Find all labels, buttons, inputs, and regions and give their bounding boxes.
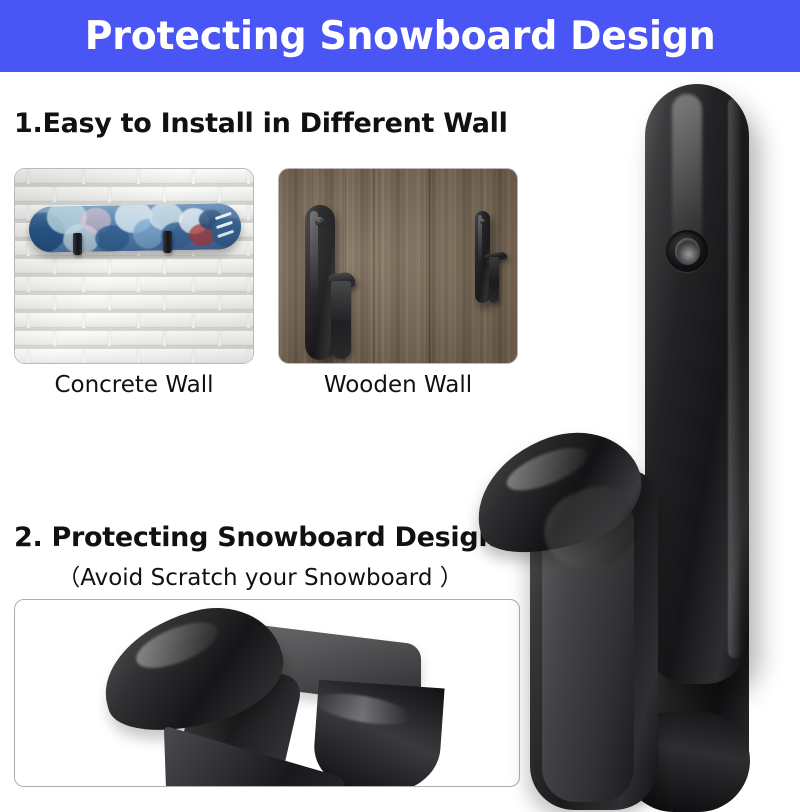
- screw-hole-inner: [675, 238, 700, 265]
- section-2-subheading: （Avoid Scratch your Snowboard ）: [0, 558, 520, 592]
- wall-hook-tip: [73, 233, 82, 255]
- caption-concrete-wall: Concrete Wall: [14, 372, 254, 398]
- concrete-wall-thumbnail: [14, 168, 254, 364]
- thumbnail-caption-row: Concrete Wall Wooden Wall: [14, 372, 542, 398]
- brick-pattern: [15, 169, 253, 363]
- section-2-heading: 2. Protecting Snowboard Design: [14, 522, 548, 553]
- backplate-edge-highlight: [728, 98, 741, 658]
- deck-graphic: [29, 203, 242, 253]
- section-protecting-design: 2. Protecting Snowboard Design （Avoid Sc…: [0, 522, 548, 592]
- skateboard-deck: [29, 203, 242, 253]
- hero-product-image: [470, 72, 800, 800]
- page-title: Protecting Snowboard Design: [85, 14, 716, 59]
- hook-tip-closeup-box: [14, 599, 520, 787]
- hook-tip-closeup-image: [15, 600, 519, 786]
- header-banner: Protecting Snowboard Design: [0, 0, 800, 72]
- wall-hook-tip: [163, 231, 172, 253]
- wall-thumbnail-row: [14, 168, 518, 364]
